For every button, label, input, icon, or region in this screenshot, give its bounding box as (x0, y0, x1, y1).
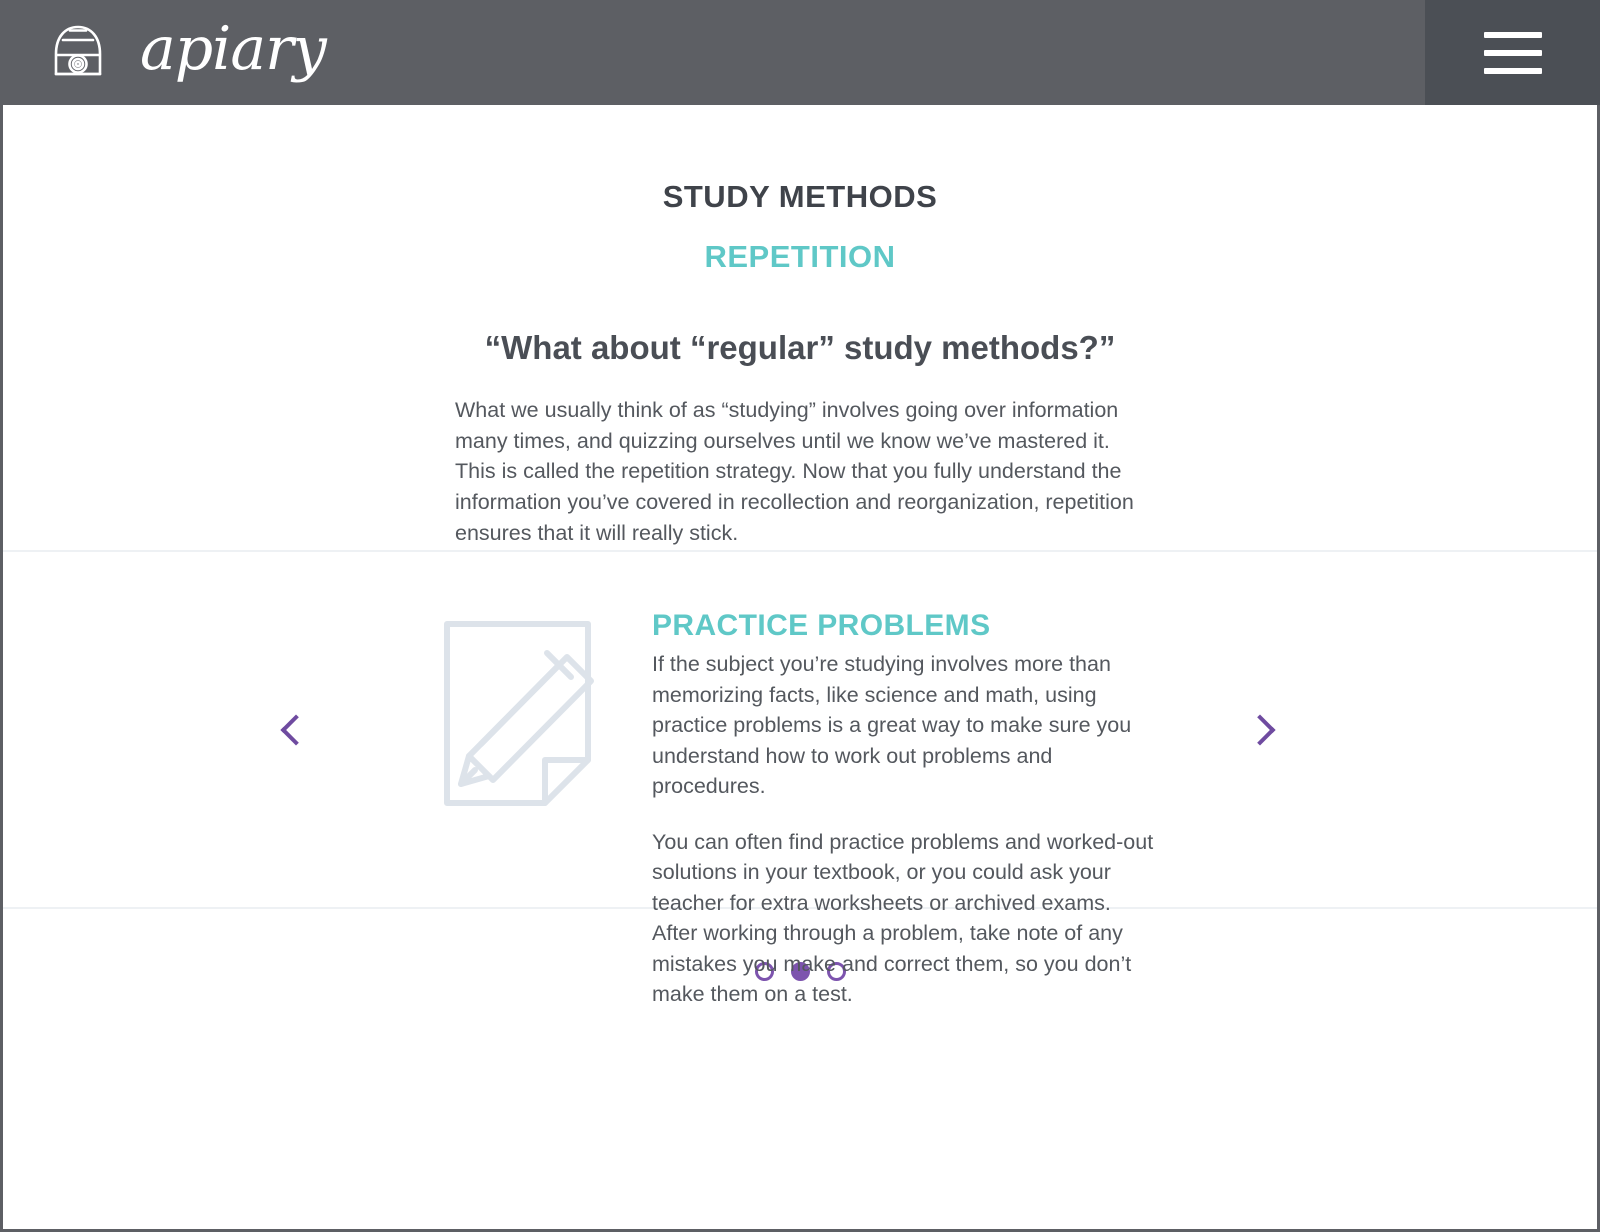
carousel-slide: PRACTICE PROBLEMS If the subject you’re … (3, 552, 1597, 1010)
slide-title: PRACTICE PROBLEMS (652, 609, 1157, 643)
page-root: apiary STUDY METHODS REPETITION “What ab… (0, 0, 1600, 1232)
chevron-right-icon (1244, 714, 1275, 745)
hamburger-menu-icon (1484, 32, 1542, 74)
slide-paragraph-1: If the subject you’re studying involves … (652, 649, 1157, 802)
content-frame: STUDY METHODS REPETITION “What about “re… (0, 105, 1600, 1232)
intro-body-text: What we usually think of as “studying” i… (455, 395, 1145, 549)
brand-wordmark: apiary (140, 19, 326, 79)
intro-section: STUDY METHODS REPETITION “What about “re… (3, 105, 1597, 552)
beehive-icon (42, 14, 114, 91)
page-subtitle: REPETITION (3, 239, 1597, 275)
document-pencil-icon (440, 609, 618, 822)
site-header: apiary (0, 0, 1600, 105)
slide-text-block: PRACTICE PROBLEMS If the subject you’re … (652, 609, 1157, 1010)
carousel-section: PRACTICE PROBLEMS If the subject you’re … (3, 552, 1597, 909)
page-title: “What about “regular” study methods?” (3, 329, 1597, 367)
hamburger-menu-button[interactable] (1425, 0, 1600, 105)
chevron-left-icon (280, 714, 311, 745)
page-eyebrow: STUDY METHODS (3, 179, 1597, 215)
carousel-next-button[interactable] (1241, 708, 1285, 752)
brand-logo[interactable]: apiary (0, 14, 326, 91)
carousel-prev-button[interactable] (271, 708, 315, 752)
slide-paragraph-2: You can often find practice problems and… (652, 827, 1157, 1010)
